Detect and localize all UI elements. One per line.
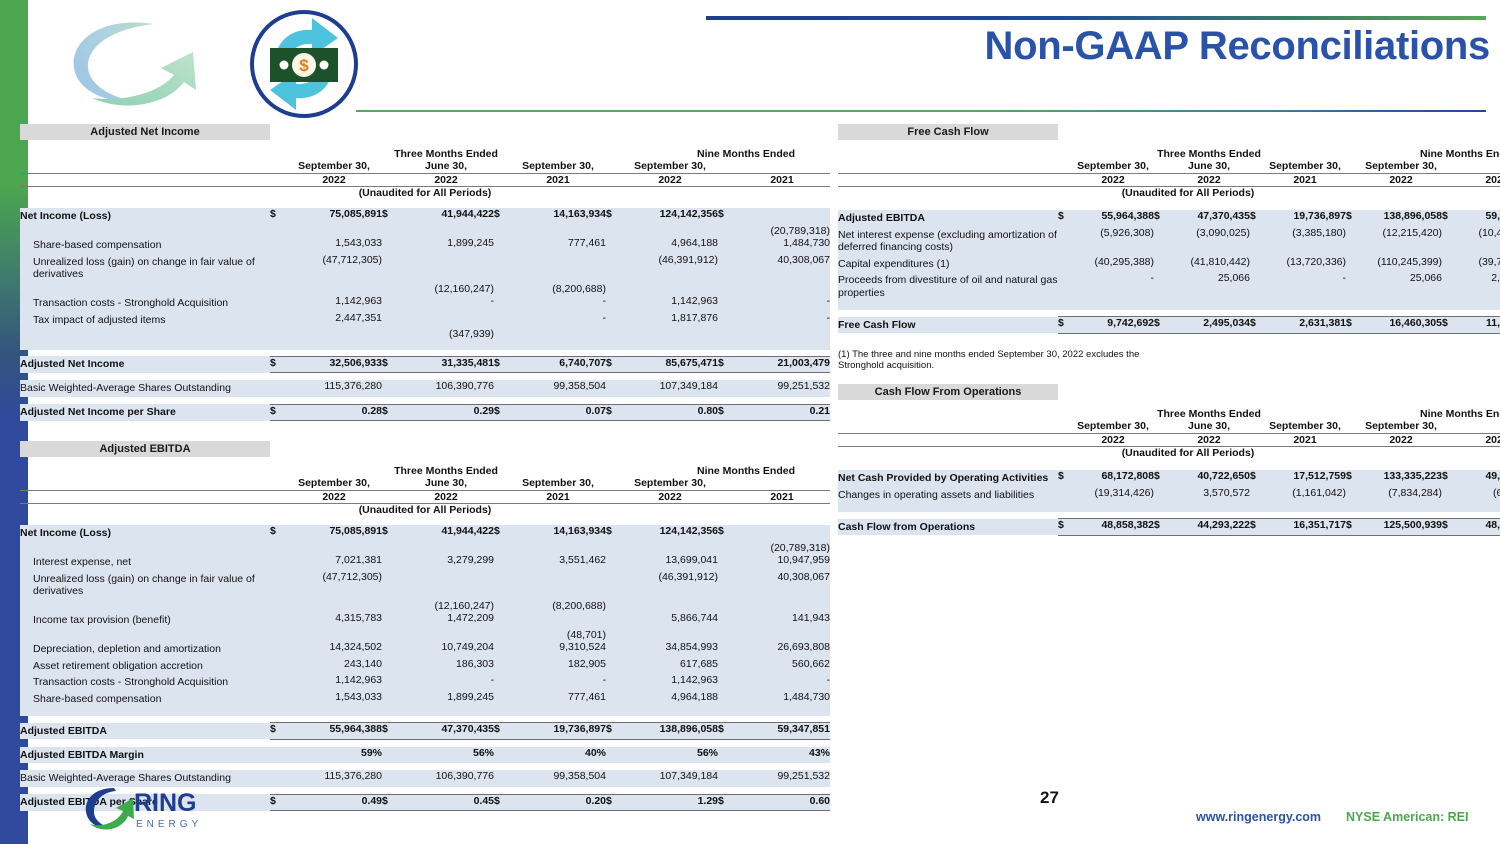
- row-currency-cont-5: [718, 283, 734, 296]
- row-currency-5: $: [718, 404, 734, 421]
- table-row: Adjusted EBITDA$55,964,388$47,370,435$19…: [838, 210, 1500, 227]
- svg-text:ENERGY: ENERGY: [136, 819, 202, 830]
- row-currency-1: [270, 674, 286, 691]
- underline-2: [1168, 301, 1250, 310]
- table-row-continuation: (20,789,318): [20, 542, 830, 555]
- row-currency-5: [718, 571, 734, 600]
- row-currency-4: [606, 254, 622, 283]
- header-col-date-3: September 30,: [1257, 420, 1353, 432]
- row-value-3: (3,385,180): [1264, 227, 1346, 256]
- header-col-year-2: 2022: [398, 174, 494, 186]
- row-value-1: 1,543,033: [286, 237, 382, 254]
- header-col-date-2: June 30,: [398, 477, 494, 489]
- row-currency-3: [1250, 272, 1264, 301]
- row-currency-5: $: [718, 525, 734, 542]
- row-value-1: 32,506,933: [286, 356, 382, 373]
- row-currency-3: [494, 691, 510, 708]
- row-value-3: 40%: [510, 747, 606, 764]
- header-col-year-4: 2022: [1353, 434, 1449, 446]
- header-col-year-5: 2021: [1449, 434, 1500, 446]
- row-label: Changes in operating assets and liabilit…: [838, 487, 1058, 504]
- row-value-4: 617,685: [622, 658, 718, 675]
- row-currency-2: $: [382, 404, 398, 421]
- row-label: Income tax provision (benefit): [20, 612, 270, 629]
- row-value-5: [734, 208, 830, 225]
- table-row-continuation: (20,789,318): [20, 225, 830, 238]
- row-value-4: 124,142,356: [622, 525, 718, 542]
- row-currency-2: $: [382, 208, 398, 225]
- row-currency-3: [494, 254, 510, 283]
- row-currency-1: [1058, 256, 1072, 273]
- row-value-cont-4: [622, 600, 718, 613]
- row-value-2: 1,899,245: [398, 691, 494, 708]
- row-currency-5: [718, 770, 734, 787]
- row-value-5: 2,000,000: [1456, 272, 1500, 301]
- header-col-year-1: 2022: [286, 174, 382, 186]
- header-col-date-2: June 30,: [1161, 160, 1257, 172]
- row-value-5: 1,484,730: [734, 237, 830, 254]
- row-value-4: 16,460,305: [1360, 317, 1442, 334]
- underline-cur-2: [1154, 301, 1168, 310]
- row-currency-3: [494, 658, 510, 675]
- row-currency-1: $: [270, 356, 286, 373]
- header-col-date-3: September 30,: [1257, 160, 1353, 172]
- table-row: Unrealized loss (gain) on change in fair…: [20, 254, 830, 283]
- row-currency-3: [1250, 487, 1264, 504]
- row-currency-5: [1442, 227, 1456, 256]
- row-currency-1: [1058, 227, 1072, 256]
- row-label: Adjusted Net Income per Share: [20, 404, 270, 421]
- row-value-cont-5: (20,789,318): [734, 225, 830, 238]
- row-currency-1: $: [270, 208, 286, 225]
- row-value-2: 41,944,422: [398, 208, 494, 225]
- row-currency-1: [270, 380, 286, 397]
- row-value-cont-3: [510, 225, 606, 238]
- row-value-3: (13,720,336): [1264, 256, 1346, 273]
- header-col-date-2: June 30,: [1161, 420, 1257, 432]
- row-value-1: (47,712,305): [286, 571, 382, 600]
- circular-arrow-swoosh-icon: [62, 14, 217, 110]
- row-currency-cont-4: [606, 542, 622, 555]
- row-currency-4: [606, 612, 622, 629]
- row-value-1: (40,295,388): [1072, 256, 1154, 273]
- header-group-three-months: Three Months Ended: [336, 148, 556, 160]
- header-col-year-4: 2022: [622, 491, 718, 503]
- row-value-1: 48,858,382: [1072, 519, 1154, 536]
- row-value-4: (7,834,284): [1360, 487, 1442, 504]
- page-number: 27: [1040, 788, 1059, 808]
- row-currency-2: [382, 237, 398, 254]
- row-currency-4: [606, 658, 622, 675]
- table-row: Capital expenditures (1)(40,295,388)(41,…: [838, 256, 1500, 273]
- row-currency-1: [270, 770, 286, 787]
- row-currency-cont-3: [494, 225, 510, 238]
- row-value-5: 99,251,532: [734, 770, 830, 787]
- row-label: Free Cash Flow: [838, 317, 1058, 334]
- total-row: Adjusted Net Income$32,506,933$31,335,48…: [20, 356, 830, 373]
- row-currency-4: [1346, 272, 1360, 301]
- row-label: Depreciation, depletion and amortization: [20, 641, 270, 658]
- row-value-5: (627,014): [1456, 487, 1500, 504]
- underline-2: [1168, 503, 1250, 512]
- row-currency-cont-4: [606, 283, 622, 296]
- row-value-3: (1,161,042): [1264, 487, 1346, 504]
- row-currency-cont-1: [270, 225, 286, 238]
- row-label: Tax impact of adjusted items: [20, 312, 270, 329]
- underline-cur-1: [270, 341, 286, 350]
- row-currency-5: [718, 747, 734, 764]
- row-currency-3: $: [1250, 210, 1264, 227]
- svg-text:RING: RING: [134, 789, 197, 817]
- row-value-5: 26,693,808: [734, 641, 830, 658]
- row-currency-5: [1442, 487, 1456, 504]
- row-currency-2: $: [1154, 470, 1168, 487]
- header-col-year-3: 2021: [510, 491, 606, 503]
- header-group-three-months: Three Months Ended: [1113, 408, 1305, 420]
- row-value-3: 182,905: [510, 658, 606, 675]
- row-currency-2: $: [1154, 317, 1168, 334]
- table-row: Transaction costs - Stronghold Acquisiti…: [20, 295, 830, 312]
- row-value-3: -: [510, 312, 606, 329]
- header-col-date-3: September 30,: [510, 477, 606, 489]
- row-value-3: -: [510, 295, 606, 312]
- row-value-1: 55,964,388: [1072, 210, 1154, 227]
- table-row: Changes in operating assets and liabilit…: [838, 487, 1500, 504]
- row-currency-2: [382, 747, 398, 764]
- row-value-4: (46,391,912): [622, 571, 718, 600]
- row-value-4: 0.80: [622, 404, 718, 421]
- row-value-3: 16,351,717: [1264, 519, 1346, 536]
- row-value-cont-1: [286, 629, 382, 642]
- row-value-cont-5: (20,789,318): [734, 542, 830, 555]
- row-currency-5: [718, 312, 734, 329]
- row-value-5: -: [734, 674, 830, 691]
- table-row: Share-based compensation1,543,0331,899,2…: [20, 237, 830, 254]
- underline-cur-5: [718, 707, 734, 716]
- row-currency-1: $: [1058, 210, 1072, 227]
- header-group-nine-months: Nine Months Ended: [636, 148, 856, 160]
- header-col-date-4: September 30,: [622, 477, 718, 489]
- row-value-cont-2: (347,939): [398, 328, 494, 341]
- row-currency-2: $: [382, 794, 398, 811]
- row-value-3: 19,736,897: [1264, 210, 1346, 227]
- row-value-cont-4: [622, 283, 718, 296]
- row-currency-4: [606, 641, 622, 658]
- underline-5: [1456, 301, 1500, 310]
- row-value-1: (47,712,305): [286, 254, 382, 283]
- underline-cur-2: [1154, 503, 1168, 512]
- row-value-cont-4: [622, 225, 718, 238]
- header-col-year-1: 2022: [1065, 174, 1161, 186]
- row-value-2: 40,722,650: [1168, 470, 1250, 487]
- row-currency-1: [270, 658, 286, 675]
- row-currency-3: [494, 312, 510, 329]
- row-currency-2: [382, 295, 398, 312]
- row-value-5: 1,484,730: [734, 691, 830, 708]
- table-row: Depreciation, depletion and amortization…: [20, 641, 830, 658]
- row-value-2: 47,370,435: [1168, 210, 1250, 227]
- row-value-1: 1,543,033: [286, 691, 382, 708]
- row-currency-5: [718, 380, 734, 397]
- underline-cur-5: [718, 341, 734, 350]
- row-currency-4: [606, 312, 622, 329]
- row-value-1: 115,376,280: [286, 770, 382, 787]
- row-value-cont-2: (12,160,247): [398, 600, 494, 613]
- row-currency-4: $: [606, 794, 622, 811]
- row-currency-5: $: [1442, 317, 1456, 334]
- row-currency-1: $: [270, 723, 286, 740]
- table-row: Interest expense, net7,021,3813,279,2993…: [20, 554, 830, 571]
- row-currency-1: [270, 641, 286, 658]
- table-row: Asset retirement obligation accretion243…: [20, 658, 830, 675]
- row-currency-5: $: [718, 723, 734, 740]
- table-row: Tax impact of adjusted items2,447,351-1,…: [20, 312, 830, 329]
- row-currency-cont-2: [382, 600, 398, 613]
- underline-3: [1264, 503, 1346, 512]
- header-col-date-1: September 30,: [286, 477, 382, 489]
- row-label: Transaction costs - Stronghold Acquisiti…: [20, 295, 270, 312]
- row-value-4: 85,675,471: [622, 356, 718, 373]
- row-currency-3: $: [1250, 470, 1264, 487]
- row-currency-2: [1154, 272, 1168, 301]
- row-currency-cont-3: [494, 600, 510, 613]
- row-value-5: 0.60: [734, 794, 830, 811]
- row-currency-1: [270, 312, 286, 329]
- row-currency-1: $: [270, 525, 286, 542]
- row-currency-2: $: [382, 723, 398, 740]
- row-label: Adjusted EBITDA: [20, 723, 270, 740]
- underline-1: [286, 341, 382, 350]
- row-value-3: 9,310,524: [510, 641, 606, 658]
- row-currency-cont-3: [494, 542, 510, 555]
- row-value-5: 141,943: [734, 612, 830, 629]
- row-currency-cont-1: [270, 542, 286, 555]
- title-top-rule: [706, 16, 1486, 20]
- header-group-nine-months: Nine Months Ended: [636, 465, 856, 477]
- row-currency-cont-3: [494, 629, 510, 642]
- website-link[interactable]: www.ringenergy.com: [1196, 810, 1321, 824]
- table-free-cash-flow: Adjusted EBITDA$55,964,388$47,370,435$19…: [838, 210, 1500, 334]
- row-label: Share-based compensation: [20, 691, 270, 708]
- row-currency-3: [494, 571, 510, 600]
- table-row: Transaction costs - Stronghold Acquisiti…: [20, 674, 830, 691]
- row-value-3: 2,631,381: [1264, 317, 1346, 334]
- row-value-1: 2,447,351: [286, 312, 382, 329]
- row-value-2: 10,749,204: [398, 641, 494, 658]
- row-currency-2: [382, 691, 398, 708]
- row-currency-3: [494, 554, 510, 571]
- row-label: Net Income (Loss): [20, 525, 270, 542]
- row-value-4: 4,964,188: [622, 691, 718, 708]
- header-unaudited-note: (Unaudited for All Periods): [20, 504, 830, 516]
- header-col-date-1: September 30,: [286, 160, 382, 172]
- row-currency-5: [718, 554, 734, 571]
- row-currency-2: [1154, 227, 1168, 256]
- row-value-5: 99,251,532: [734, 380, 830, 397]
- underline-cur-5: [1442, 301, 1456, 310]
- row-currency-1: [270, 254, 286, 283]
- shares-row: Basic Weighted-Average Shares Outstandin…: [20, 380, 830, 397]
- title-bottom-rule: [356, 110, 1486, 112]
- row-value-5: 49,523,439: [1456, 470, 1500, 487]
- subtotal-underline-row: [838, 301, 1500, 310]
- section-bar-adjusted-ebitda: Adjusted EBITDA: [20, 441, 270, 457]
- row-value-2: [398, 571, 494, 600]
- row-value-cont-5: [734, 600, 830, 613]
- row-value-1: 115,376,280: [286, 380, 382, 397]
- row-value-4: 56%: [622, 747, 718, 764]
- row-currency-cont-1: [270, 328, 286, 341]
- header-col-date-1: September 30,: [1065, 160, 1161, 172]
- row-value-3: 14,163,934: [510, 208, 606, 225]
- header-col-year-5: 2021: [1449, 174, 1500, 186]
- row-currency-cont-2: [382, 328, 398, 341]
- row-value-1: 68,172,808: [1072, 470, 1154, 487]
- row-value-1: 0.49: [286, 794, 382, 811]
- table-row: Proceeds from divestiture of oil and nat…: [838, 272, 1500, 301]
- row-label-cont: [20, 225, 270, 238]
- row-currency-5: [1442, 256, 1456, 273]
- row-currency-2: [382, 571, 398, 600]
- row-currency-4: $: [1346, 470, 1360, 487]
- row-value-5: 10,947,959: [734, 554, 830, 571]
- table-row: Net Income (Loss)$75,085,891$41,944,422$…: [20, 208, 830, 225]
- row-currency-cont-3: [494, 328, 510, 341]
- row-currency-4: $: [1346, 317, 1360, 334]
- row-value-4: 124,142,356: [622, 208, 718, 225]
- row-currency-5: [1442, 272, 1456, 301]
- row-currency-5: [718, 237, 734, 254]
- header-col-year-5: 2021: [734, 491, 830, 503]
- underline-cur-4: [606, 707, 622, 716]
- row-value-3: 0.07: [510, 404, 606, 421]
- section-bar-adjusted-net-income: Adjusted Net Income: [20, 124, 270, 140]
- row-currency-1: $: [270, 404, 286, 421]
- row-value-2: 41,944,422: [398, 525, 494, 542]
- row-currency-cont-5: [718, 225, 734, 238]
- row-value-3: 99,358,504: [510, 380, 606, 397]
- cash-flow-money-icon: $: [246, 8, 362, 120]
- row-value-3: [510, 571, 606, 600]
- header-col-year-3: 2021: [510, 174, 606, 186]
- header-col-year-1: 2022: [286, 491, 382, 503]
- underline-cur-1: [1058, 301, 1072, 310]
- header-col-year-2: 2022: [1161, 434, 1257, 446]
- row-value-5: 59,347,851: [1456, 210, 1500, 227]
- row-value-1: 1,142,963: [286, 674, 382, 691]
- table-row: Net interest expense (excluding amortiza…: [838, 227, 1500, 256]
- stock-ticker: NYSE American: REI: [1346, 810, 1469, 824]
- underline-4: [1360, 301, 1442, 310]
- row-currency-3: [494, 237, 510, 254]
- row-currency-2: [382, 612, 398, 629]
- row-value-4: 25,066: [1360, 272, 1442, 301]
- underline-spacer: [20, 707, 270, 716]
- row-label: Transaction costs - Stronghold Acquisiti…: [20, 674, 270, 691]
- underline-3: [1264, 301, 1346, 310]
- row-value-5: 48,896,425: [1456, 519, 1500, 536]
- header-col-year-3: 2021: [1257, 174, 1353, 186]
- row-currency-1: [270, 747, 286, 764]
- row-value-2: [398, 254, 494, 283]
- table-row-continuation: (48,701): [20, 629, 830, 642]
- row-currency-5: [718, 612, 734, 629]
- row-value-1: 75,085,891: [286, 525, 382, 542]
- row-value-2: (3,090,025): [1168, 227, 1250, 256]
- row-currency-cont-4: [606, 328, 622, 341]
- underline-cur-3: [494, 707, 510, 716]
- row-value-cont-3: (8,200,688): [510, 283, 606, 296]
- table-row: Unrealized loss (gain) on change in fair…: [20, 571, 830, 600]
- table-row: Share-based compensation1,543,0331,899,2…: [20, 691, 830, 708]
- row-value-cont-1: [286, 328, 382, 341]
- row-currency-5: $: [718, 208, 734, 225]
- row-currency-2: [382, 254, 398, 283]
- row-value-2: -: [398, 295, 494, 312]
- row-currency-1: [270, 554, 286, 571]
- row-currency-4: [606, 691, 622, 708]
- row-spacer: [20, 739, 830, 747]
- row-value-1: (5,926,308): [1072, 227, 1154, 256]
- header-col-date-3: September 30,: [510, 160, 606, 172]
- row-currency-3: $: [494, 356, 510, 373]
- column-header-cash-flow-operations: Three Months EndedNine Months EndedSepte…: [838, 408, 1500, 456]
- row-currency-3: [494, 641, 510, 658]
- underline-spacer: [20, 341, 270, 350]
- row-value-3: 19,736,897: [510, 723, 606, 740]
- table-row: Net Cash Provided by Operating Activitie…: [838, 470, 1500, 487]
- total-row: Free Cash Flow$9,742,692$2,495,034$2,631…: [838, 317, 1500, 334]
- row-value-cont-2: [398, 225, 494, 238]
- row-value-1: 55,964,388: [286, 723, 382, 740]
- row-value-1: 0.28: [286, 404, 382, 421]
- row-currency-cont-5: [718, 600, 734, 613]
- row-label-cont: [20, 600, 270, 613]
- row-value-1: 59%: [286, 747, 382, 764]
- row-value-4: 1.29: [622, 794, 718, 811]
- underline-cur-3: [1250, 503, 1264, 512]
- row-label: Net Cash Provided by Operating Activitie…: [838, 470, 1058, 487]
- row-currency-1: [270, 691, 286, 708]
- row-value-2: 106,390,776: [398, 380, 494, 397]
- row-value-4: 107,349,184: [622, 380, 718, 397]
- row-value-cont-1: [286, 225, 382, 238]
- row-value-1: 1,142,963: [286, 295, 382, 312]
- row-currency-cont-1: [270, 629, 286, 642]
- row-currency-1: $: [270, 794, 286, 811]
- section-bar-free-cash-flow: Free Cash Flow: [838, 124, 1058, 140]
- underline-3: [510, 341, 606, 350]
- row-currency-4: [606, 554, 622, 571]
- row-currency-5: [718, 254, 734, 283]
- row-label: Adjusted Net Income: [20, 356, 270, 373]
- header-group-nine-months: Nine Months Ended: [1373, 148, 1500, 160]
- subtotal-underline-row: [20, 707, 830, 716]
- row-value-cont-3: [510, 542, 606, 555]
- underline-spacer: [838, 503, 1058, 512]
- underline-1: [1072, 301, 1154, 310]
- table-row-continuation: (12,160,247)(8,200,688): [20, 600, 830, 613]
- row-value-3: 3,551,462: [510, 554, 606, 571]
- row-value-5: 43%: [734, 747, 830, 764]
- row-currency-1: $: [1058, 470, 1072, 487]
- row-value-3: 99,358,504: [510, 770, 606, 787]
- row-value-2: 25,066: [1168, 272, 1250, 301]
- row-currency-4: $: [606, 404, 622, 421]
- underline-cur-4: [606, 341, 622, 350]
- underline-cur-4: [1346, 301, 1360, 310]
- row-value-4: 34,854,993: [622, 641, 718, 658]
